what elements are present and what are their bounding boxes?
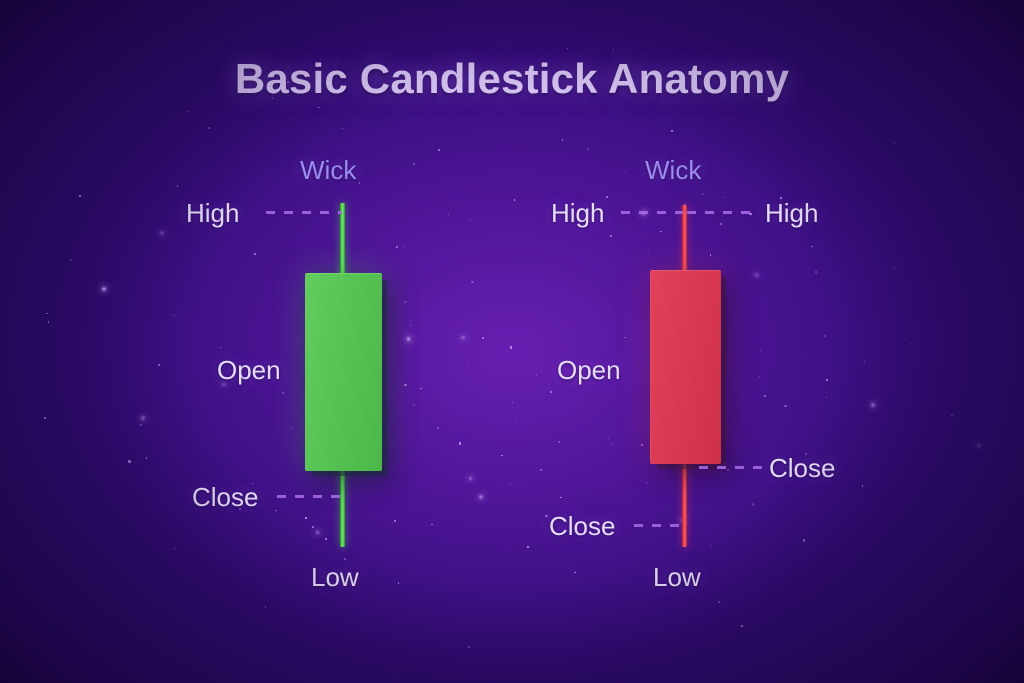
bearish-wick-label: Wick bbox=[645, 155, 701, 186]
bearish-close-left-label: Close bbox=[549, 511, 615, 542]
bullish-body bbox=[305, 273, 382, 471]
bearish-close-left-leader-line bbox=[634, 524, 684, 527]
bullish-close-leader-line bbox=[277, 495, 343, 498]
bearish-high-right-leader-line bbox=[687, 211, 759, 214]
bearish-high-right-label: High bbox=[765, 198, 818, 229]
bearish-high-left-label: High bbox=[551, 198, 604, 229]
candlestick-anatomy-infographic: Basic Candlestick Anatomy Wick High Open… bbox=[0, 0, 1024, 683]
bullish-low-label: Low bbox=[311, 562, 359, 593]
bearish-open-label: Open bbox=[557, 355, 621, 386]
bullish-high-leader-line bbox=[266, 211, 342, 214]
bearish-close-right-leader-line bbox=[699, 466, 763, 469]
page-title: Basic Candlestick Anatomy bbox=[0, 55, 1024, 103]
bullish-wick-label: Wick bbox=[300, 155, 356, 186]
bearish-high-left-leader-line bbox=[621, 211, 683, 214]
bullish-open-label: Open bbox=[217, 355, 281, 386]
bullish-high-label: High bbox=[186, 198, 239, 229]
bearish-body bbox=[650, 270, 721, 464]
bullish-close-label: Close bbox=[192, 482, 258, 513]
bearish-close-right-label: Close bbox=[769, 453, 835, 484]
bearish-low-label: Low bbox=[653, 562, 701, 593]
